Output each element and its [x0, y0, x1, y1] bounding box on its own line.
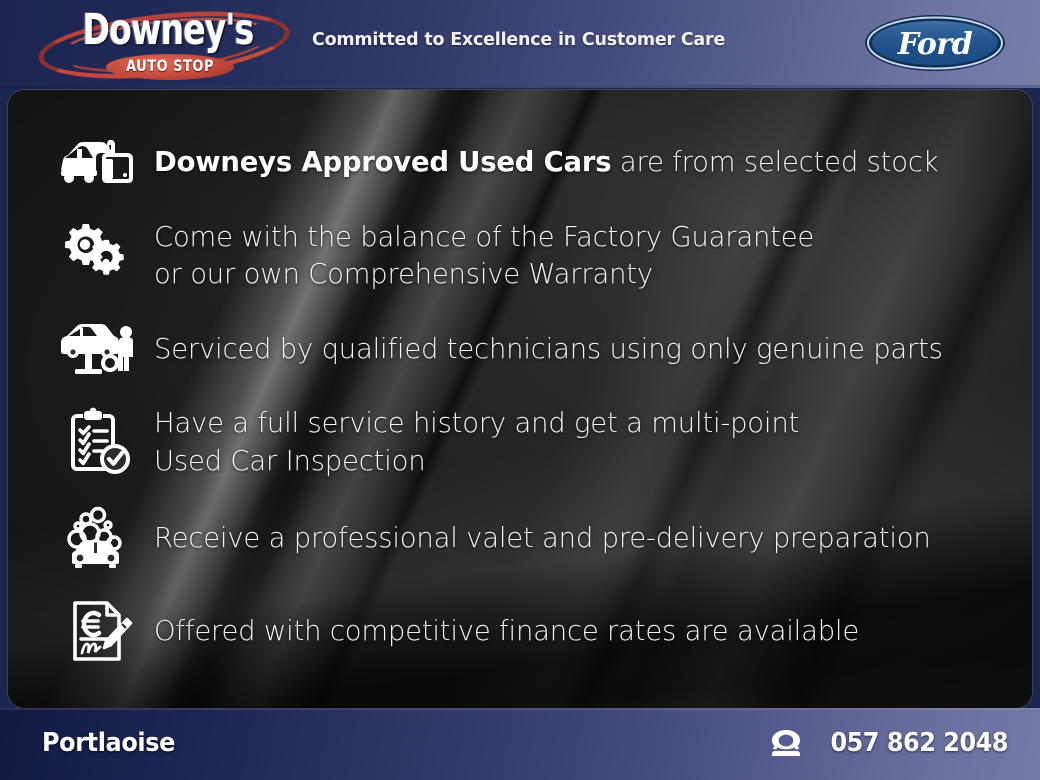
feature-item: Come with the balance of the Factory Gua…	[8, 218, 1032, 292]
feature-body: Receive a professional valet and pre-del…	[154, 521, 931, 554]
feature-body-line2: or our own Comprehensive Warranty	[154, 255, 985, 292]
car-thumbs-up-icon	[52, 136, 148, 188]
clipboard-checklist-icon	[52, 407, 148, 477]
features-panel: Downeys Approved Used Cars are from sele…	[8, 90, 1032, 708]
feature-body: are from selected stock	[611, 145, 938, 178]
feature-list: Downeys Approved Used Cars are from sele…	[8, 90, 1032, 708]
feature-text: Downeys Approved Used Cars are from sele…	[154, 143, 1014, 180]
downeys-logo-wordmark: Downey's	[76, 6, 260, 54]
ford-oval-logo-icon: Ford	[864, 14, 1006, 72]
feature-text: Have a full service history and get a mu…	[154, 404, 1014, 478]
feature-text: Come with the balance of the Factory Gua…	[154, 218, 1014, 292]
car-wash-bubbles-icon	[52, 505, 148, 571]
feature-body: Come with the balance of the Factory Gua…	[154, 220, 814, 253]
auto-stop-label: AUTO STOP	[106, 57, 234, 76]
banner-footer: Portlaoise 057 862 2048	[0, 708, 1040, 780]
feature-item: Offered with competitive finance rates a…	[8, 597, 1032, 665]
feature-body: Serviced by qualified technicians using …	[154, 332, 943, 365]
feature-bold-prefix: Downeys Approved Used Cars	[154, 145, 611, 178]
feature-text: Receive a professional valet and pre-del…	[154, 519, 1014, 556]
feature-item: Receive a professional valet and pre-del…	[8, 505, 1032, 571]
ford-logo: Ford	[864, 14, 1006, 72]
feature-text: Serviced by qualified technicians using …	[154, 330, 1014, 367]
feature-body-line2: Used Car Inspection	[154, 442, 985, 479]
contact-block[interactable]: 057 862 2048	[769, 728, 1008, 758]
car-on-lift-technician-icon	[52, 319, 148, 377]
dealer-location: Portlaoise	[42, 728, 175, 758]
dealer-used-car-banner: Downey's AUTO STOP Committed to Excellen…	[0, 0, 1040, 780]
feature-item: Serviced by qualified technicians using …	[8, 318, 1032, 378]
gears-icon	[52, 224, 148, 286]
telephone-icon	[769, 728, 803, 758]
feature-body: Have a full service history and get a mu…	[154, 406, 799, 439]
banner-header: Downey's AUTO STOP Committed to Excellen…	[0, 0, 1040, 88]
feature-text: Offered with competitive finance rates a…	[154, 612, 1014, 649]
euro-document-signature-icon	[52, 597, 148, 665]
header-tagline: Committed to Excellence in Customer Care	[312, 29, 725, 50]
downeys-logo: Downey's AUTO STOP	[24, 4, 304, 86]
phone-number[interactable]: 057 862 2048	[830, 728, 1008, 758]
svg-text:Ford: Ford	[897, 27, 973, 62]
feature-item: Have a full service history and get a mu…	[8, 404, 1032, 478]
feature-item: Downeys Approved Used Cars are from sele…	[8, 132, 1032, 192]
feature-body: Offered with competitive finance rates a…	[154, 614, 859, 647]
